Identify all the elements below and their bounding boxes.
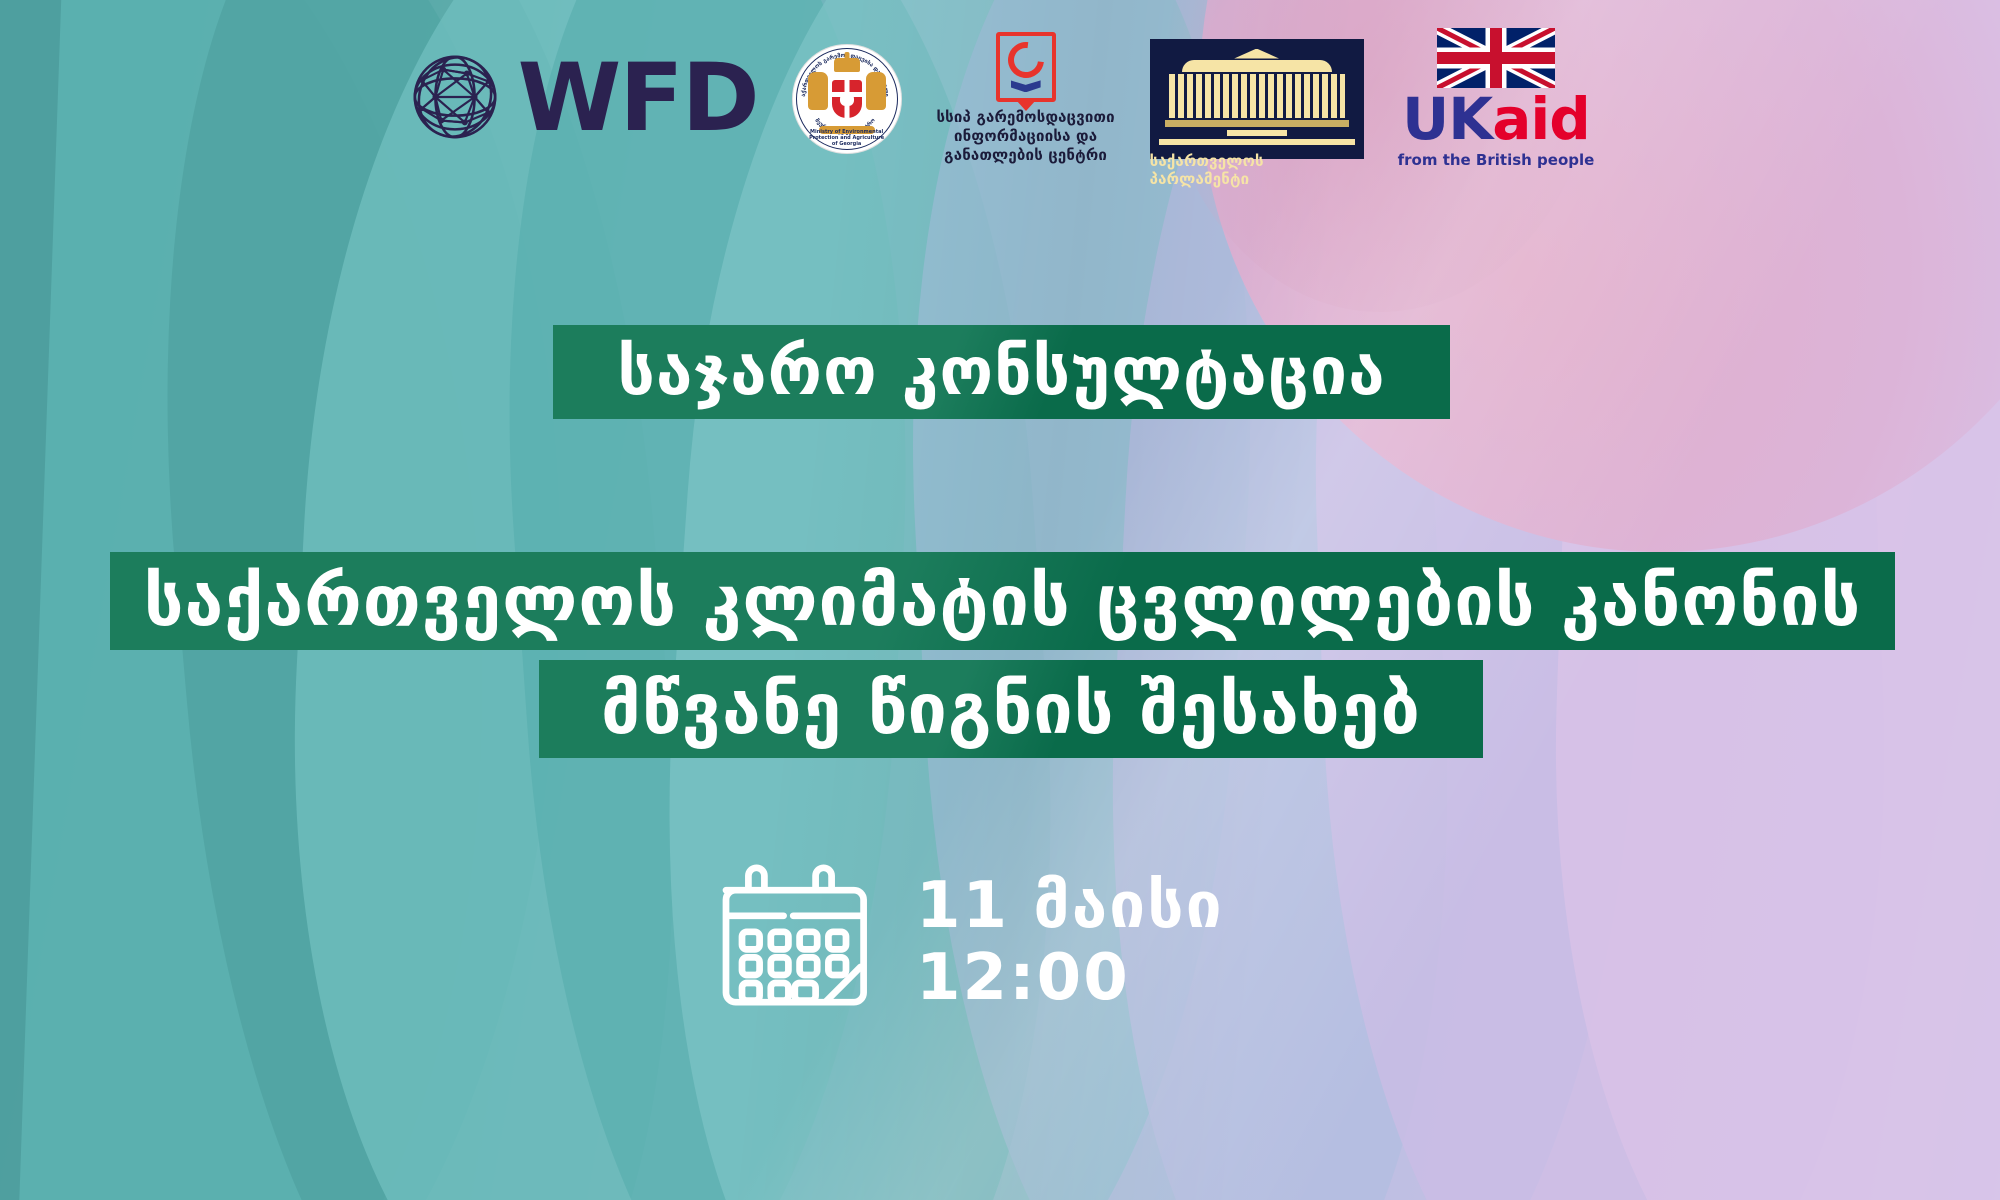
parliament-emblem: საქართველოს პარლამენტი — [1150, 39, 1364, 159]
event-date: 11 მაისი — [916, 871, 1224, 943]
event-datetime-text: 11 მაისი 12:00 — [916, 871, 1224, 1014]
logo-ukaid: UKaid from the British people — [1398, 28, 1595, 169]
ukaid-wordmark: UKaid — [1402, 90, 1590, 148]
ukaid-tagline: from the British people — [1398, 151, 1595, 169]
parliament-building-icon — [1169, 49, 1345, 145]
seal-crown — [834, 58, 860, 72]
public-consultation-banner: საჯარო კონსულტაცია — [553, 325, 1450, 419]
seal-lion-left — [808, 72, 828, 110]
ministry-seal-icon: საქართველოს გარემოს დაცვისა და სოფლის მე… — [792, 44, 902, 154]
subtitle-banner-line2: მწვანე წიგნის შესახებ — [539, 660, 1483, 758]
book-shield-icon — [996, 32, 1056, 102]
parliament-label: საქართველოს პარლამენტი — [1150, 152, 1364, 188]
subtitle-text-line1: საქართველოს კლიმატის ცვლილების კანონის — [144, 560, 1862, 642]
event-datetime-block: 11 მაისი 12:00 — [710, 858, 1224, 1028]
seal-english-caption: Ministry of Environmental Protection and… — [792, 129, 902, 148]
logo-environmental-info-centre: სსიპ გარემოსდაცვითი ინფორმაციისა და განა… — [936, 32, 1116, 164]
environmental-info-centre-label: სსიპ გარემოსდაცვითი ინფორმაციისა და განა… — [936, 108, 1114, 164]
subtitle-text-line2: მწვანე წიგნის შესახებ — [601, 668, 1421, 750]
seal-lion-right — [866, 72, 886, 110]
poster-canvas: WFD საქართველოს გარემოს დაცვისა და სოფლი… — [0, 0, 2000, 1200]
calendar-icon — [710, 858, 870, 1028]
union-jack-icon — [1437, 28, 1555, 88]
logo-row: WFD საქართველოს გარემოს დაცვისა და სოფლი… — [0, 28, 2000, 169]
globe-network-icon — [406, 48, 504, 150]
subtitle-banner-line1: საქართველოს კლიმატის ცვლილების კანონის — [110, 552, 1895, 650]
event-time: 12:00 — [916, 943, 1224, 1015]
logo-wfd: WFD — [406, 48, 758, 150]
wfd-wordmark: WFD — [518, 52, 758, 146]
logo-parliament-of-georgia: საქართველოს პარლამენტი — [1150, 39, 1364, 159]
logo-ministry-seal: საქართველოს გარემოს დაცვისა და სოფლის მე… — [792, 44, 902, 154]
seal-shield — [832, 80, 862, 118]
public-consultation-text: საჯარო კონსულტაცია — [617, 333, 1385, 410]
